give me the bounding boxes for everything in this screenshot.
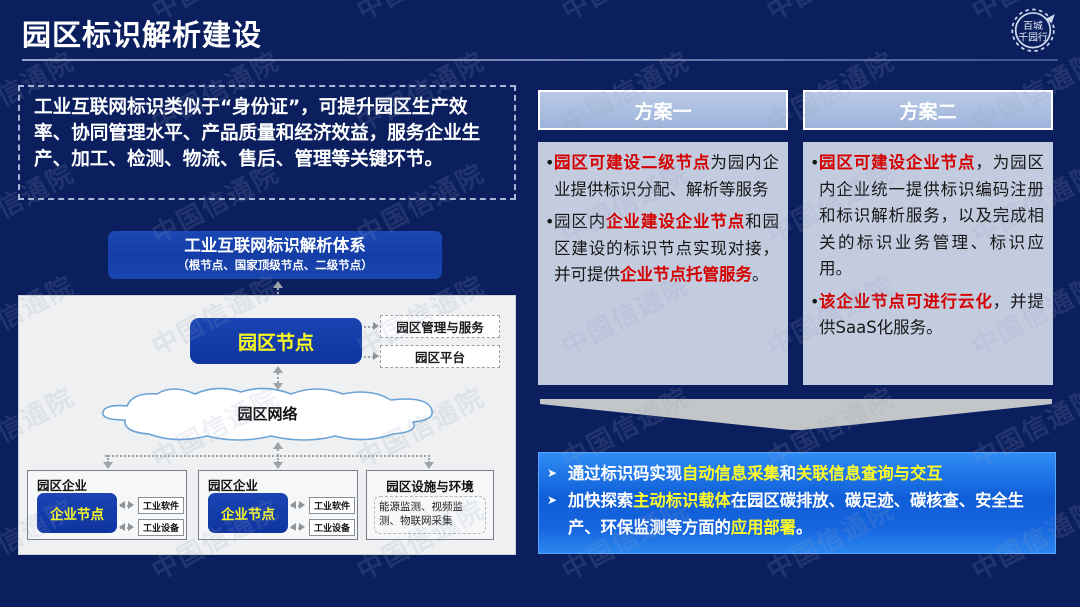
box-park-management-label: 园区管理与服务: [396, 317, 484, 336]
connector-arrow-left-icon: [119, 523, 125, 531]
node-park: 园区节点: [190, 318, 362, 364]
card-park-enterprise: 园区企业 企业节点 工业软件 工业设备: [198, 470, 358, 540]
box-industrial-software: 工业软件: [309, 497, 355, 514]
plan-one-header-label: 方案一: [634, 97, 691, 124]
box-industrial-equipment-label: 工业设备: [143, 521, 179, 534]
plan-one-header: 方案一: [538, 90, 788, 130]
conclusion-bullet: 加快探索主动标识载体在园区碳排放、碳足迹、碳核查、安全生产、环保监测等方面的应用…: [545, 487, 1047, 541]
connector-arrow-up-icon: [273, 281, 283, 288]
conclusion-box: 通过标识码实现自动信息采集和关联信息查询与交互加快探索主动标识载体在园区碳排放、…: [538, 452, 1056, 554]
connector-arrow-up-icon: [273, 366, 283, 373]
plan-bullet: 园区可建设二级节点为园内企业提供标识分配、解析等服务: [545, 150, 779, 203]
cloud-label: 园区网络: [95, 403, 440, 424]
box-industrial-equipment: 工业设备: [309, 519, 355, 536]
node-enterprise: 企业节点: [208, 493, 288, 533]
box-industrial-equipment: 工业设备: [138, 519, 184, 536]
highlighted-text: 企业节点托管服务: [620, 265, 752, 284]
title-bar: 园区标识解析建设 百城 千园行: [0, 0, 1080, 66]
conclusion-bullet: 通过标识码实现自动信息采集和关联信息查询与交互: [545, 460, 1047, 487]
highlighted-text: 主动标识载体: [633, 491, 731, 510]
connector-arrow-down-icon: [424, 462, 434, 469]
connector-arrow-up-icon: [273, 442, 283, 449]
watermark-text: 中国信通院: [760, 601, 901, 607]
connector-arrow-right-icon: [128, 523, 134, 531]
highlighted-text: 企业建设企业节点: [606, 212, 745, 231]
connector-arrow-right-icon: [128, 501, 134, 509]
watermark-text: 中国信通院: [350, 601, 491, 607]
card-park-enterprise-title: 园区企业: [208, 475, 258, 494]
box-industrial-software-label: 工业软件: [143, 499, 179, 512]
connector-arrow-left-icon: [119, 501, 125, 509]
connector-arrow-right-icon: [299, 501, 305, 509]
box-industrial-software-label: 工业软件: [314, 499, 350, 512]
plan-two-header-label: 方案二: [899, 97, 956, 124]
plan-two-body: 园区可建设企业节点，为园区内企业统一提供标识编码注册和标识解析服务，以及完成相关…: [803, 142, 1053, 385]
intro-box: 工业互联网标识类似于“身份证”，可提升园区生产效率、协同管理水平、产品质量和经济…: [18, 85, 516, 200]
connector-arrow-down-icon: [273, 462, 283, 469]
connector-bus-line: [105, 455, 430, 457]
node-enterprise-label: 企业节点: [50, 503, 104, 523]
diagram-header: 工业互联网标识解析体系 （根节点、国家顶级节点、二级节点）: [108, 231, 442, 279]
box-industrial-software: 工业软件: [138, 497, 184, 514]
down-chevron-icon: [540, 397, 1052, 432]
plan-bullet: 园区内企业建设企业节点和园区建设的标识节点实现对接，并可提供企业节点托管服务。: [545, 209, 779, 289]
card-facility-environment: 园区设施与环境 能源监测、视频监测、物联网采集: [366, 470, 494, 540]
body-text: 和: [780, 464, 796, 483]
plan-bullet: 园区可建设企业节点，为园区内企业统一提供标识编码注册和标识解析服务，以及完成相关…: [810, 150, 1044, 283]
card-park-enterprise: 园区企业 企业节点 工业软件 工业设备: [27, 470, 187, 540]
connector-arrow-left-icon: [290, 501, 296, 509]
body-text: 加快探索: [568, 491, 633, 510]
logo-line1: 百城: [1023, 20, 1043, 32]
highlighted-text: 园区可建设企业节点: [819, 153, 975, 172]
diagram-header-title: 工业互联网标识解析体系: [108, 235, 442, 257]
intro-text: 工业互联网标识类似于“身份证”，可提升园区生产效率、协同管理水平、产品质量和经济…: [34, 95, 502, 173]
node-enterprise: 企业节点: [37, 493, 117, 533]
box-industrial-equipment-label: 工业设备: [314, 521, 350, 534]
body-text: 园区内: [554, 212, 606, 231]
plan-bullet: 该企业节点可进行云化，并提供SaaS化服务。: [810, 289, 1044, 342]
node-enterprise-label: 企业节点: [221, 503, 275, 523]
connector-arrow-down-icon: [103, 462, 113, 469]
plan-one-body: 园区可建设二级节点为园内企业提供标识分配、解析等服务园区内企业建设企业节点和园区…: [538, 142, 788, 385]
box-park-platform: 园区平台: [380, 345, 500, 368]
watermark-text: 中国信通院: [0, 601, 81, 607]
connector-arrow-left-icon: [290, 523, 296, 531]
highlighted-text: 应用部署: [731, 518, 796, 537]
body-text: 。: [796, 518, 812, 537]
watermark-text: 中国信通院: [965, 601, 1080, 607]
plan-two-header: 方案二: [803, 90, 1053, 130]
node-park-label: 园区节点: [238, 328, 314, 355]
body-text: 。: [752, 265, 769, 284]
card-facility-body: 能源监测、视频监测、物联网采集: [374, 496, 486, 534]
body-text: 通过标识码实现: [568, 464, 682, 483]
box-park-platform-label: 园区平台: [415, 347, 465, 366]
gear-icon: 百城 千园行: [1004, 6, 1062, 58]
page-title: 园区标识解析建设: [22, 12, 262, 54]
connector-arrow-right-icon: [299, 523, 305, 531]
watermark-text: 中国信通院: [555, 601, 696, 607]
box-park-management: 园区管理与服务: [380, 315, 500, 338]
diagram-header-subtitle: （根节点、国家顶级节点、二级节点）: [108, 257, 442, 273]
connector-line: [277, 373, 279, 383]
card-park-enterprise-title: 园区企业: [37, 475, 87, 494]
card-facility-title: 园区设施与环境: [367, 476, 493, 495]
title-divider: [22, 59, 1058, 61]
highlighted-text: 园区可建设二级节点: [554, 153, 710, 172]
logo-line2: 千园行: [1018, 31, 1048, 44]
highlighted-text: 自动信息采集: [682, 464, 780, 483]
connector-arrow-right-icon: [373, 352, 379, 360]
connector-arrow-right-icon: [373, 322, 379, 330]
highlighted-text: 该企业节点可进行云化: [819, 292, 993, 311]
highlighted-text: 关联信息查询与交互: [796, 464, 943, 483]
watermark-text: 中国信通院: [145, 601, 286, 607]
